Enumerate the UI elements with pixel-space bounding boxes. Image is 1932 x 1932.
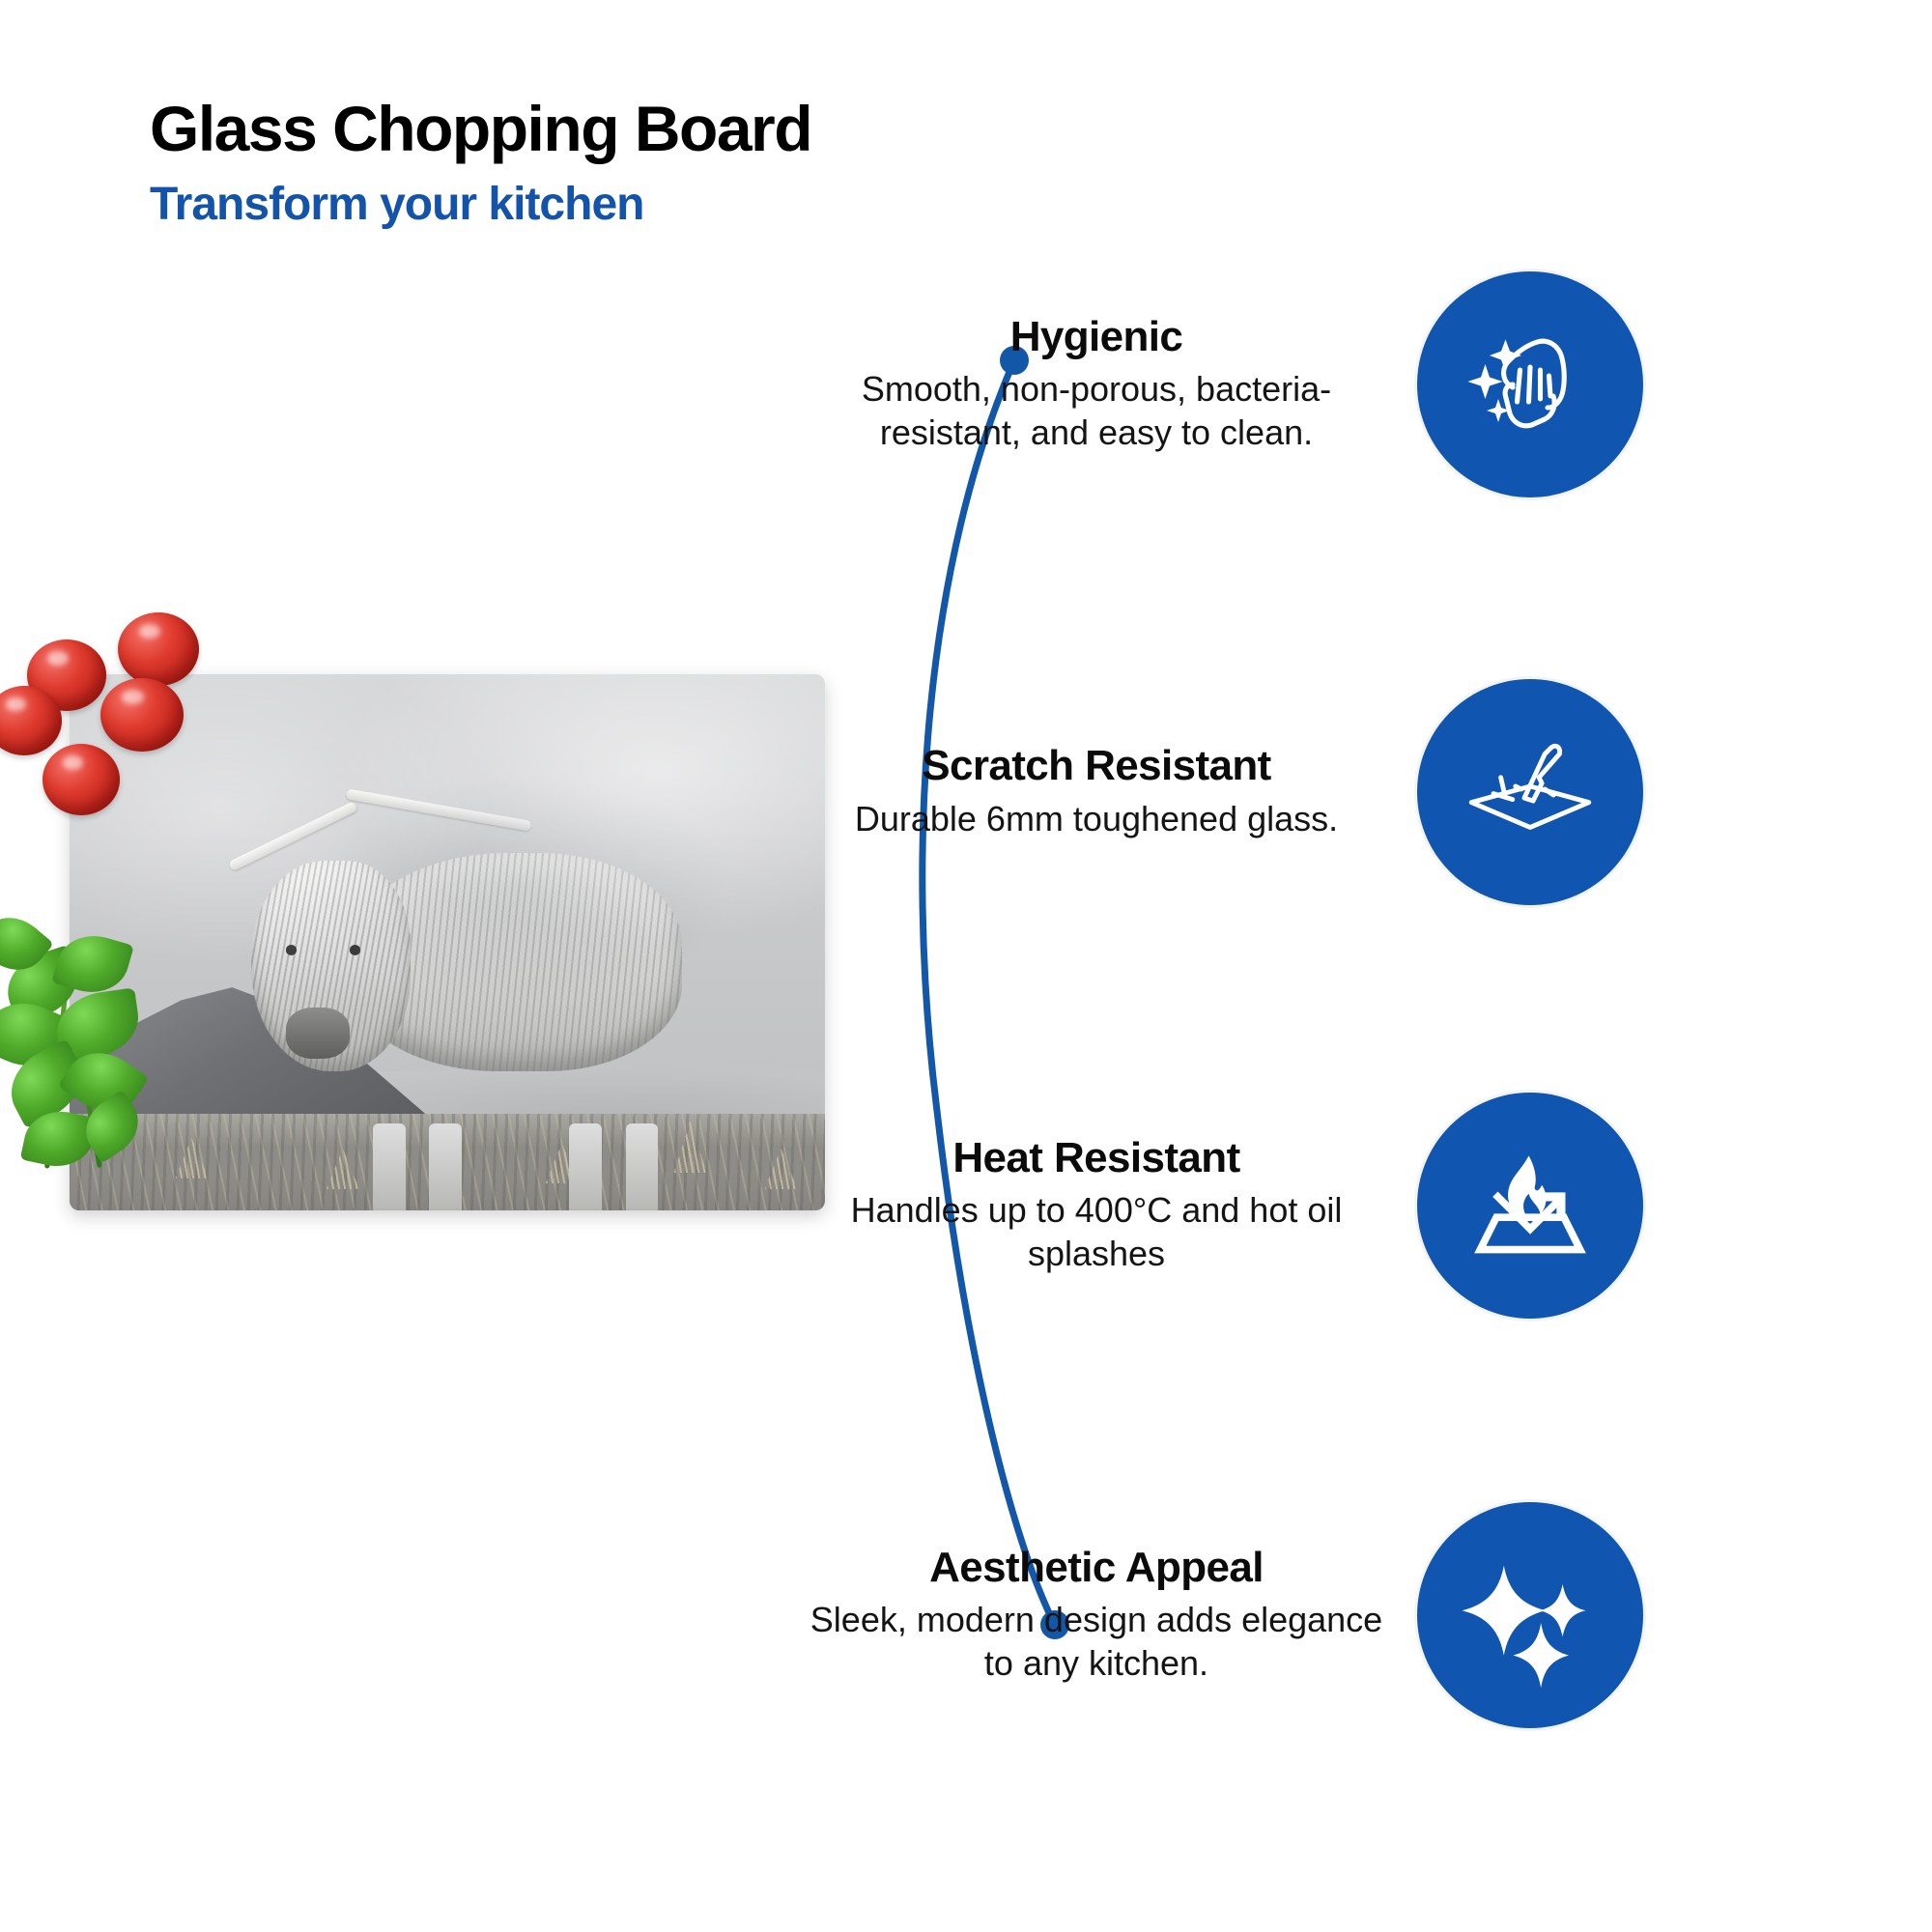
page-subtitle: Transform your kitchen: [150, 182, 1116, 228]
cherry-tomato: [118, 612, 199, 686]
feature-title: Hygienic: [802, 315, 1391, 359]
feature-description: Sleek, modern design adds elegance to an…: [802, 1598, 1391, 1685]
feature-icon-wrap: [1414, 1090, 1704, 1321]
feature-title: Heat Resistant: [802, 1136, 1391, 1180]
feature-aesthetic-appeal: Aesthetic Appeal Sleek, modern design ad…: [802, 1499, 1768, 1731]
cherry-tomato: [100, 678, 184, 752]
feature-title: Scratch Resistant: [802, 744, 1391, 788]
feature-heat-resistant: Heat Resistant Handles up to 400°C and h…: [802, 1090, 1768, 1321]
feature-text-block: Heat Resistant Handles up to 400°C and h…: [802, 1136, 1414, 1275]
header-block: Glass Chopping Board Transform your kitc…: [150, 97, 1116, 228]
feature-text-block: Hygienic Smooth, non-porous, bacteria-re…: [802, 315, 1414, 454]
hand-sparkle-clean-icon: [1414, 269, 1646, 500]
product-photo: [0, 599, 869, 1275]
feature-icon-wrap: [1414, 269, 1704, 500]
feature-description: Smooth, non-porous, bacteria-resistant, …: [802, 367, 1391, 454]
feature-title: Aesthetic Appeal: [802, 1546, 1391, 1590]
feature-description: Handles up to 400°C and hot oil splashes: [802, 1188, 1391, 1275]
page-title: Glass Chopping Board: [150, 97, 1116, 160]
glass-chopping-board: [70, 674, 825, 1210]
feature-text-block: Aesthetic Appeal Sleek, modern design ad…: [802, 1546, 1414, 1685]
feature-hygienic: Hygienic Smooth, non-porous, bacteria-re…: [802, 269, 1768, 500]
cherry-tomato: [43, 744, 120, 815]
feature-description: Durable 6mm toughened glass.: [802, 797, 1391, 840]
glass-sheen: [70, 674, 825, 1210]
flame-heat-deflect-icon: [1414, 1090, 1646, 1321]
feature-scratch-resistant: Scratch Resistant Durable 6mm toughened …: [802, 676, 1768, 908]
curved-connector-line: [908, 338, 1217, 1690]
feature-text-block: Scratch Resistant Durable 6mm toughened …: [802, 744, 1414, 839]
feature-icon-wrap: [1414, 676, 1704, 908]
feature-icon-wrap: [1414, 1499, 1704, 1731]
knife-on-board-icon: [1414, 676, 1646, 908]
sparkles-icon: [1414, 1499, 1646, 1731]
